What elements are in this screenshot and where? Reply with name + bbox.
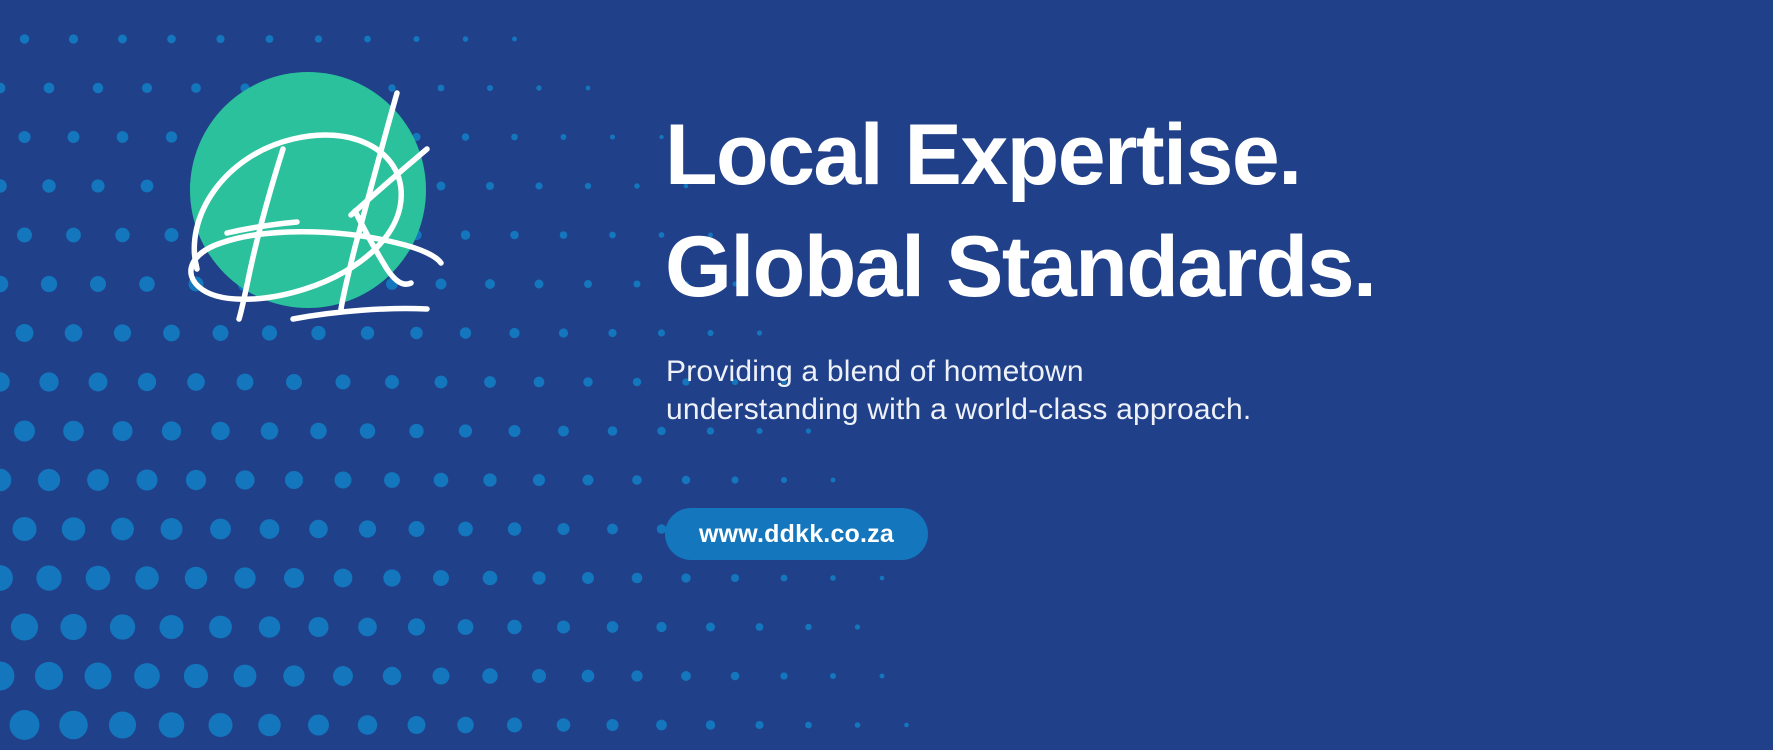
copy-block: Local Expertise. Global Standards. Provi… — [665, 0, 1715, 750]
subtitle-line-2: understanding with a world-class approac… — [666, 395, 1251, 425]
brand-logo — [190, 72, 426, 308]
headline-line-1: Local Expertise. — [665, 112, 1301, 198]
dk-script-icon — [165, 57, 455, 337]
promotional-banner: Local Expertise. Global Standards. Provi… — [0, 0, 1773, 750]
website-cta-button[interactable]: www.ddkk.co.za — [665, 508, 928, 560]
headline-line-2: Global Standards. — [665, 224, 1375, 310]
subtitle-line-1: Providing a blend of hometown — [666, 357, 1084, 387]
